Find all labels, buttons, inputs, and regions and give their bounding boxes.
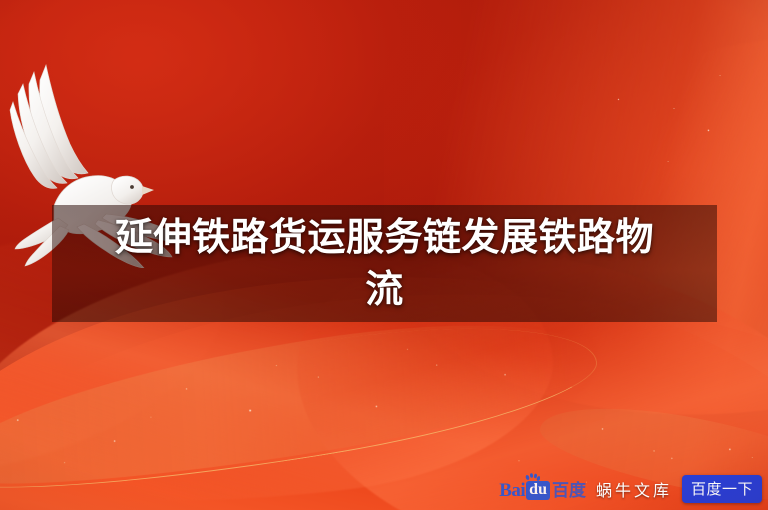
watermark-bar: Bai du 百度 蜗牛文库 百度一下 [499, 476, 762, 502]
page-title-line-1: 延伸铁路货运服务链发展铁路物 [115, 212, 654, 263]
baidu-search-button[interactable]: 百度一下 [682, 475, 762, 503]
page-title: 延伸铁路货运服务链发展铁路物 流 [52, 205, 717, 322]
page-title-line-2: 流 [365, 264, 404, 315]
watermark-brand-label: 蜗牛文库 [596, 477, 672, 501]
baidu-paw-icon [525, 473, 540, 482]
baidu-logo-bai: Bai [499, 481, 525, 500]
poster-canvas: 延伸铁路货运服务链发展铁路物 流 Bai du 百度 蜗牛文库 百度一下 [0, 0, 768, 510]
baidu-logo: Bai du 百度 [499, 478, 586, 500]
baidu-logo-du: du [526, 481, 550, 500]
baidu-logo-chinese: 百度 [552, 483, 586, 500]
